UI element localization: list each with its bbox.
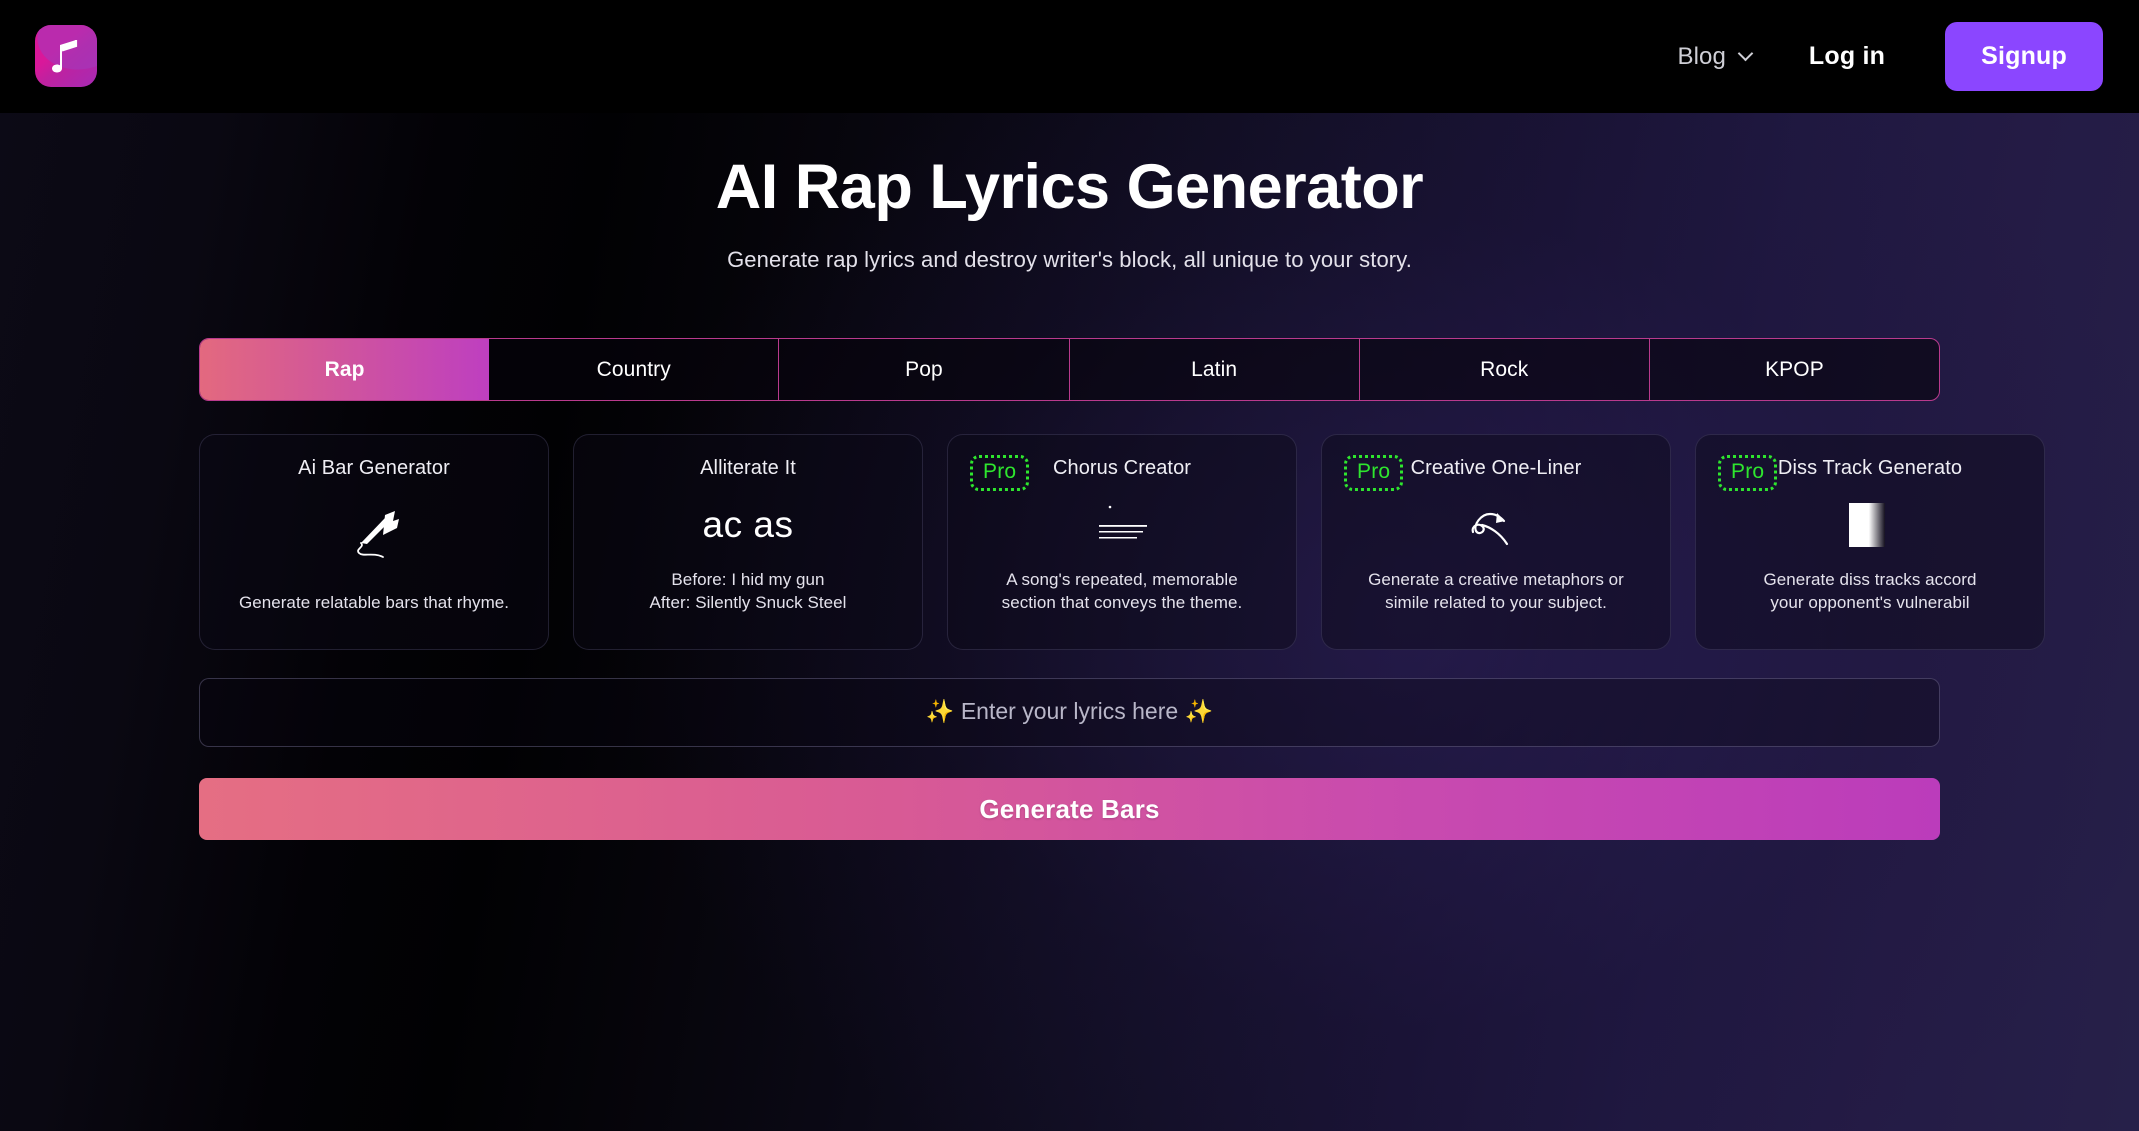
signup-button[interactable]: Signup <box>1945 22 2103 91</box>
tool-card-title: Chorus Creator <box>1053 457 1191 480</box>
tool-card-title: Diss Track Generato <box>1778 457 1962 480</box>
tool-card-title: Ai Bar Generator <box>298 457 450 480</box>
nav-item-blog[interactable]: Blog <box>1659 33 1770 81</box>
tab-pop[interactable]: Pop <box>779 339 1069 400</box>
ac-as-letters-text: ac as <box>703 507 794 542</box>
tool-card-list: Ai Bar Generator Generate relatable bars… <box>199 434 2139 650</box>
nav-item-login[interactable]: Log in <box>1771 30 1923 83</box>
hero-section: AI Rap Lyrics Generator Generate rap lyr… <box>0 113 2139 273</box>
chevron-down-icon <box>1739 48 1753 62</box>
tab-country[interactable]: Country <box>489 339 779 400</box>
tool-card-description: Generate diss tracks accord your opponen… <box>1764 569 1977 615</box>
genre-tab-bar: Rap Country Pop Latin Rock KPOP <box>199 338 1940 401</box>
tool-card-alliterate-it[interactable]: Alliterate It ac as Before: I hid my gun… <box>573 434 923 650</box>
tab-latin[interactable]: Latin <box>1070 339 1360 400</box>
tool-card-title: Alliterate It <box>700 457 796 480</box>
music-note-logo-icon[interactable] <box>35 25 97 87</box>
tool-card-chorus-creator[interactable]: Pro Chorus Creator A song's repeated, me… <box>947 434 1297 650</box>
tab-rap[interactable]: Rap <box>200 339 489 400</box>
nav-blog-label: Blog <box>1677 43 1725 71</box>
pen-nib-icon <box>218 480 530 592</box>
tool-card-diss-track-generator[interactable]: Pro Diss Track Generato Generate diss tr… <box>1695 434 2045 650</box>
tool-card-description: A song's repeated, memorable section tha… <box>1002 569 1243 615</box>
header-nav: Blog Log in Signup <box>1659 0 2103 113</box>
pro-badge: Pro <box>970 455 1029 491</box>
tool-card-description: Before: I hid my gun After: Silently Snu… <box>650 569 847 615</box>
page-subtitle: Generate rap lyrics and destroy writer's… <box>0 247 2139 273</box>
generate-bars-button[interactable]: Generate Bars <box>199 778 1940 840</box>
pro-badge: Pro <box>1344 455 1403 491</box>
ac-as-letters-icon: ac as <box>592 480 904 569</box>
tool-card-description: Generate relatable bars that rhyme. <box>239 592 509 615</box>
lines-chorus-icon <box>966 480 1278 569</box>
page-title: AI Rap Lyrics Generator <box>0 151 2139 223</box>
tab-rock[interactable]: Rock <box>1360 339 1650 400</box>
pro-badge: Pro <box>1718 455 1777 491</box>
tool-card-title: Creative One-Liner <box>1411 457 1582 480</box>
site-header: Blog Log in Signup <box>0 0 2139 113</box>
tool-card-description: Generate a creative metaphors or simile … <box>1368 569 1624 615</box>
tab-kpop[interactable]: KPOP <box>1650 339 1939 400</box>
fade-block-icon <box>1714 480 2026 569</box>
tool-card-ai-bar-generator[interactable]: Ai Bar Generator Generate relatable bars… <box>199 434 549 650</box>
lyrics-input[interactable] <box>199 678 1940 747</box>
tool-card-creative-one-liner[interactable]: Pro Creative One-Liner Generate a creati… <box>1321 434 1671 650</box>
curved-arrow-icon <box>1340 480 1652 569</box>
